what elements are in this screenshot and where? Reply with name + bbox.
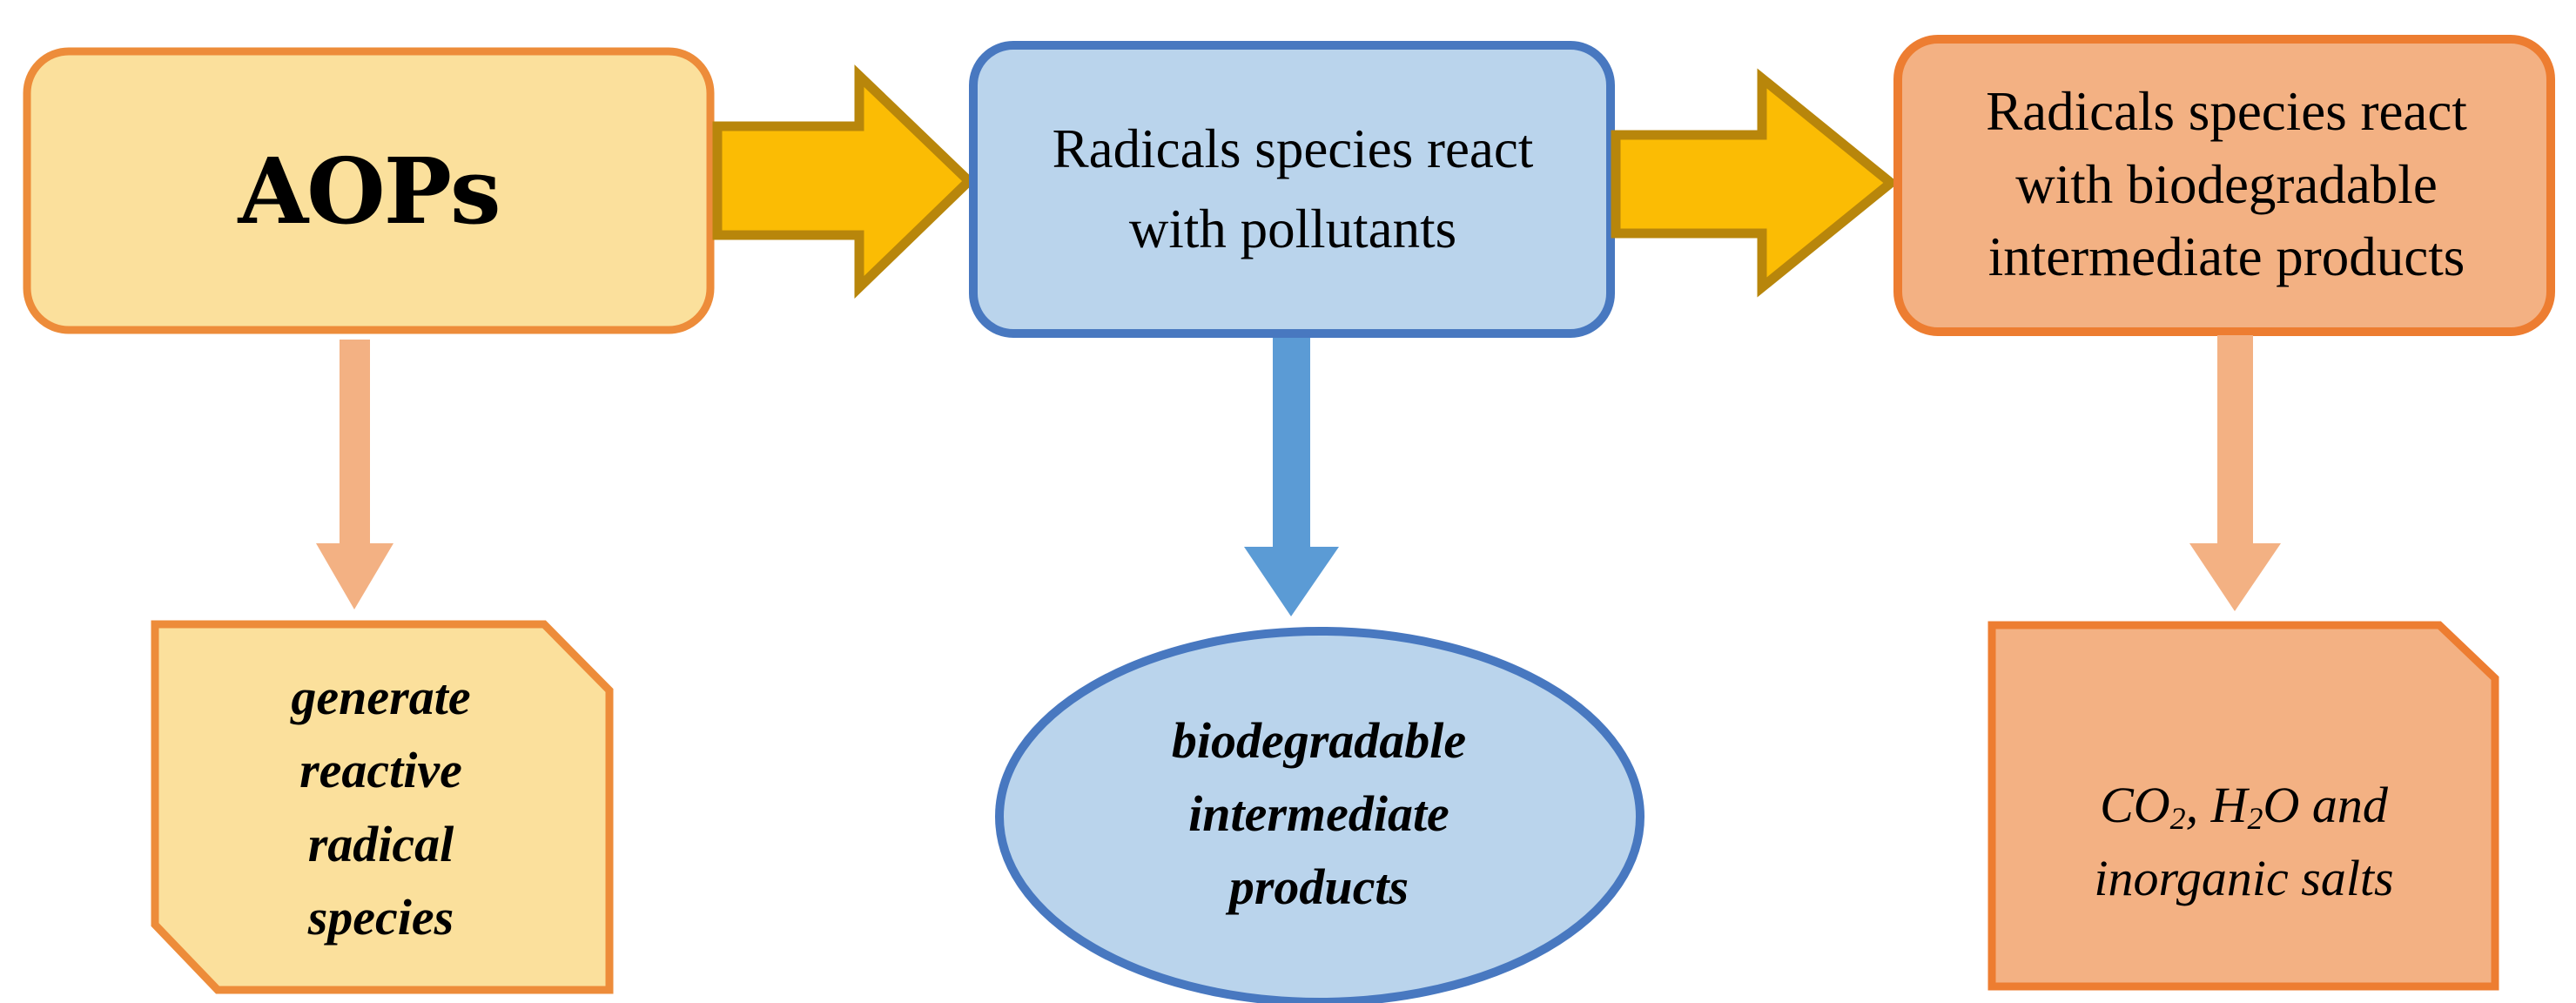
diagram-shapes-layer — [0, 0, 2576, 1003]
node-generate-shape[interactable] — [155, 624, 609, 990]
diagram-canvas: AOPs Radicals species react with polluta… — [0, 0, 2576, 1003]
node-aops-shape[interactable] — [27, 51, 710, 330]
arrow-aops-to-generate — [316, 340, 393, 609]
node-intermediate-shape[interactable] — [999, 631, 1640, 1002]
node-step2-shape[interactable] — [973, 45, 1611, 333]
arrow-step3-to-products — [2189, 335, 2281, 611]
arrow-step2-to-intermediate — [1244, 338, 1339, 616]
arrow-step2-to-step3 — [1616, 78, 1891, 287]
arrow-aops-to-step2 — [717, 76, 969, 287]
node-step3-shape[interactable] — [1898, 39, 2551, 332]
node-products-shape[interactable] — [1992, 625, 2495, 986]
